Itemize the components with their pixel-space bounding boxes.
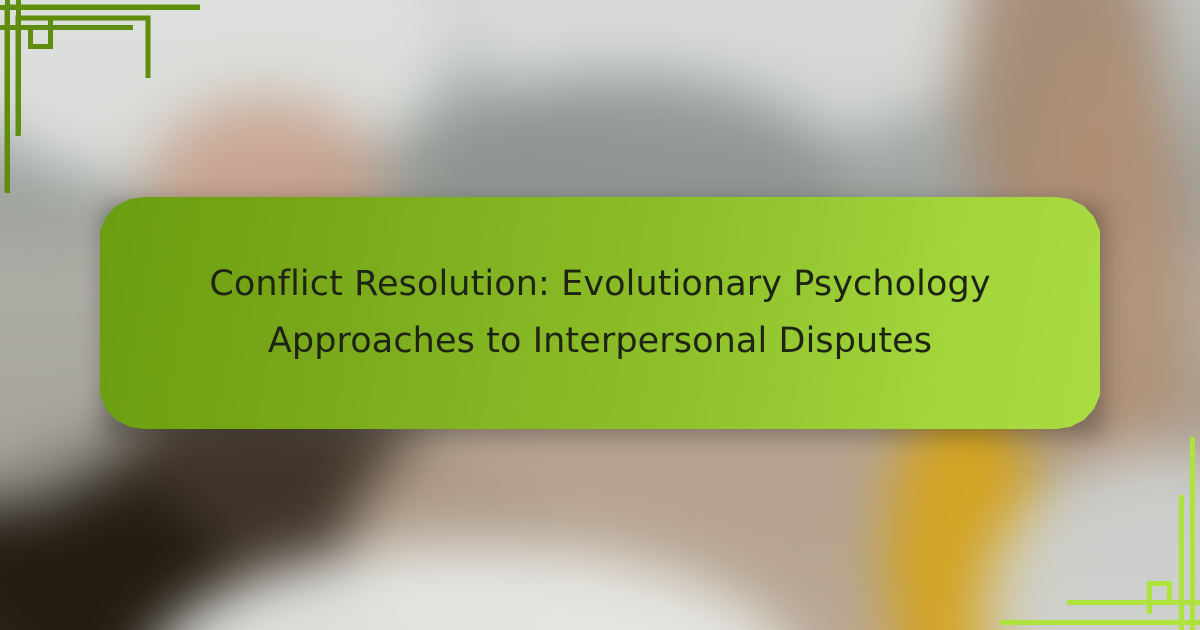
tl-vertical-inner <box>16 0 21 135</box>
br-square-top <box>1147 581 1172 586</box>
banner-canvas: Conflict Resolution: Evolutionary Psycho… <box>0 0 1200 630</box>
tl-square-bottom <box>28 44 53 49</box>
br-arm-mid <box>1067 600 1152 605</box>
tl-arm-mid <box>48 25 133 30</box>
br-vertical-inner <box>1179 495 1184 630</box>
page-title: Conflict Resolution: Evolutionary Psycho… <box>160 256 1040 369</box>
tl-horizontal-outer <box>0 5 200 10</box>
title-card: Conflict Resolution: Evolutionary Psycho… <box>100 197 1100 429</box>
br-horizontal-outer <box>1000 620 1200 625</box>
top-left-ornament-lines <box>0 0 210 200</box>
bottom-right-ornament-lines <box>990 430 1200 630</box>
